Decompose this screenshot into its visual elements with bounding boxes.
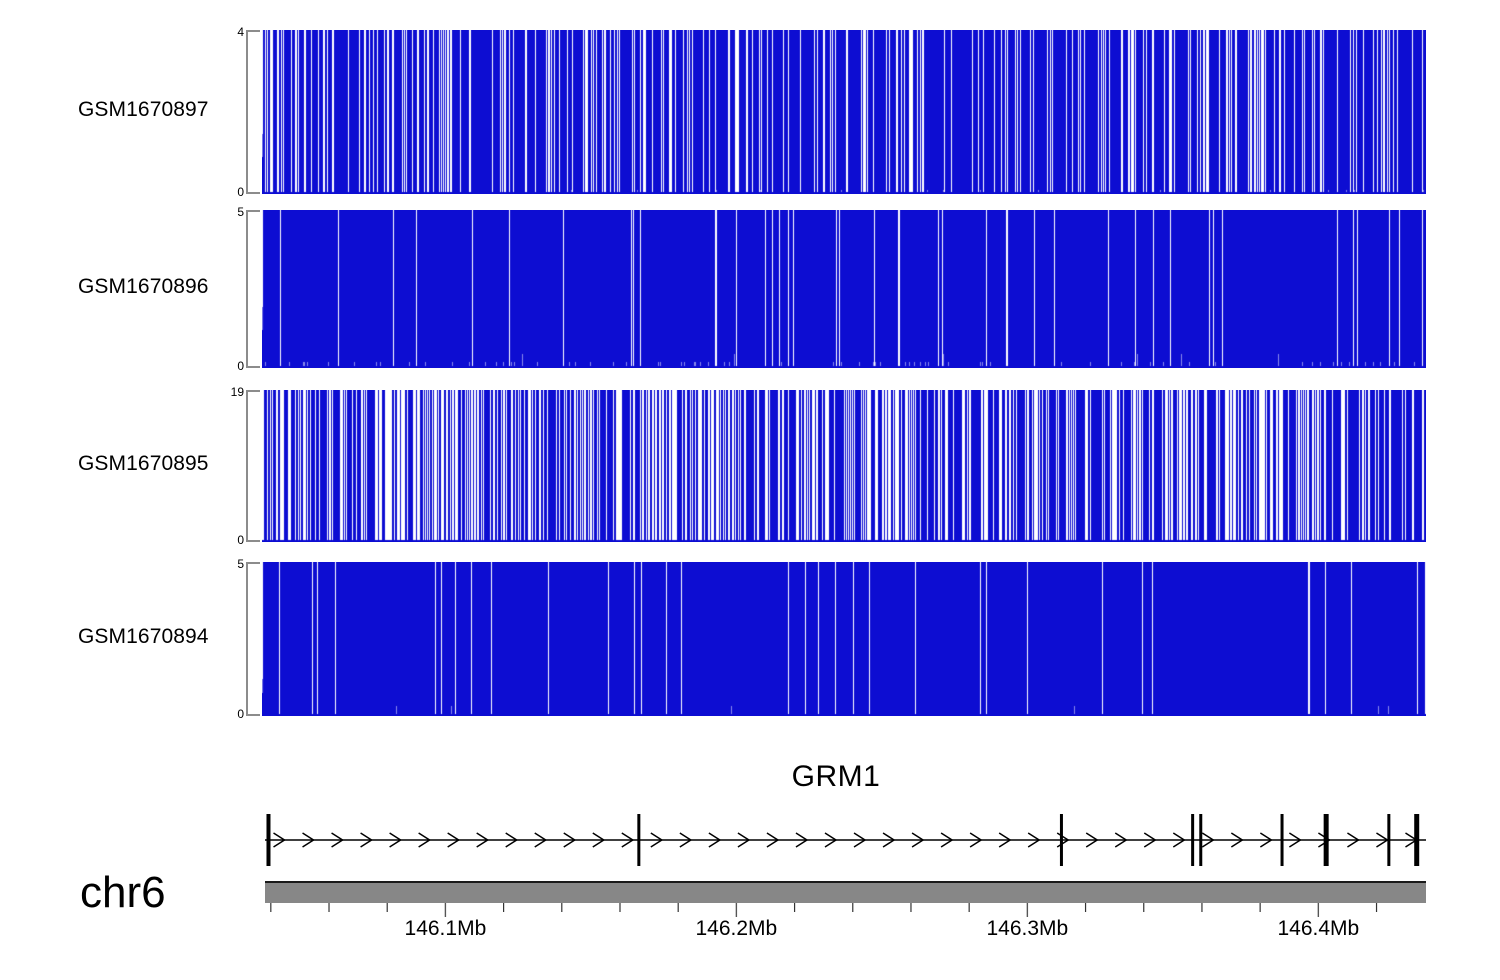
y-axis-GSM1670894: 50	[246, 562, 260, 716]
gene-exon-2[interactable]	[637, 814, 640, 866]
axis-min-label-GSM1670895: 0	[237, 534, 244, 546]
gene-name-label: GRM1	[0, 760, 1500, 794]
gene-exon-9[interactable]	[1414, 814, 1419, 866]
gene-exon-6[interactable]	[1281, 814, 1284, 866]
gene-model-svg[interactable]	[0, 798, 1500, 878]
gene-exon-5[interactable]	[1199, 814, 1202, 866]
y-axis-GSM1670897: 40	[246, 30, 260, 194]
axis-min-label-GSM1670896: 0	[237, 360, 244, 372]
axis-max-label-GSM1670897: 4	[237, 26, 244, 38]
gene-exon-7[interactable]	[1324, 814, 1329, 866]
gene-name-text: GRM1	[792, 760, 881, 793]
axis-min-label-GSM1670894: 0	[237, 708, 244, 720]
gene-exon-3[interactable]	[1060, 814, 1063, 866]
track-label-GSM1670896: GSM1670896	[78, 275, 209, 299]
track-label-GSM1670894: GSM1670894	[78, 625, 209, 649]
ruler-tick-label: 146.4Mb	[1277, 917, 1359, 941]
signal-track-GSM1670894[interactable]: GSM167089450	[0, 562, 1500, 716]
signal-track-GSM1670897[interactable]: GSM167089740	[0, 30, 1500, 194]
signal-plot-GSM1670896[interactable]	[262, 210, 1426, 368]
gene-annotation-panel: GRM1	[0, 760, 1500, 880]
axis-max-label-GSM1670896: 5	[237, 206, 244, 218]
ideogram-bar[interactable]	[265, 881, 1426, 903]
axis-min-label-GSM1670897: 0	[237, 186, 244, 198]
signal-track-GSM1670896[interactable]: GSM167089650	[0, 210, 1500, 368]
gene-exon-8[interactable]	[1387, 814, 1390, 866]
y-axis-GSM1670896: 50	[246, 210, 260, 368]
signal-plot-GSM1670895[interactable]	[262, 390, 1426, 542]
ruler-tick-label: 146.1Mb	[405, 917, 487, 941]
track-label-GSM1670895: GSM1670895	[78, 452, 209, 476]
y-axis-GSM1670895: 190	[246, 390, 260, 542]
signal-track-GSM1670895[interactable]: GSM1670895190	[0, 390, 1500, 542]
axis-max-label-GSM1670894: 5	[237, 558, 244, 570]
gene-exon-4[interactable]	[1191, 814, 1194, 866]
genome-browser: GSM167089740GSM167089650GSM1670895190GSM…	[0, 0, 1500, 980]
gene-exon-1[interactable]	[266, 814, 270, 866]
ruler-tick-label: 146.2Mb	[696, 917, 778, 941]
ruler-tick-label: 146.3Mb	[986, 917, 1068, 941]
signal-plot-GSM1670897[interactable]	[262, 30, 1426, 194]
signal-plot-GSM1670894[interactable]	[262, 562, 1426, 716]
track-label-GSM1670897: GSM1670897	[78, 98, 209, 122]
axis-max-label-GSM1670895: 19	[231, 386, 244, 398]
